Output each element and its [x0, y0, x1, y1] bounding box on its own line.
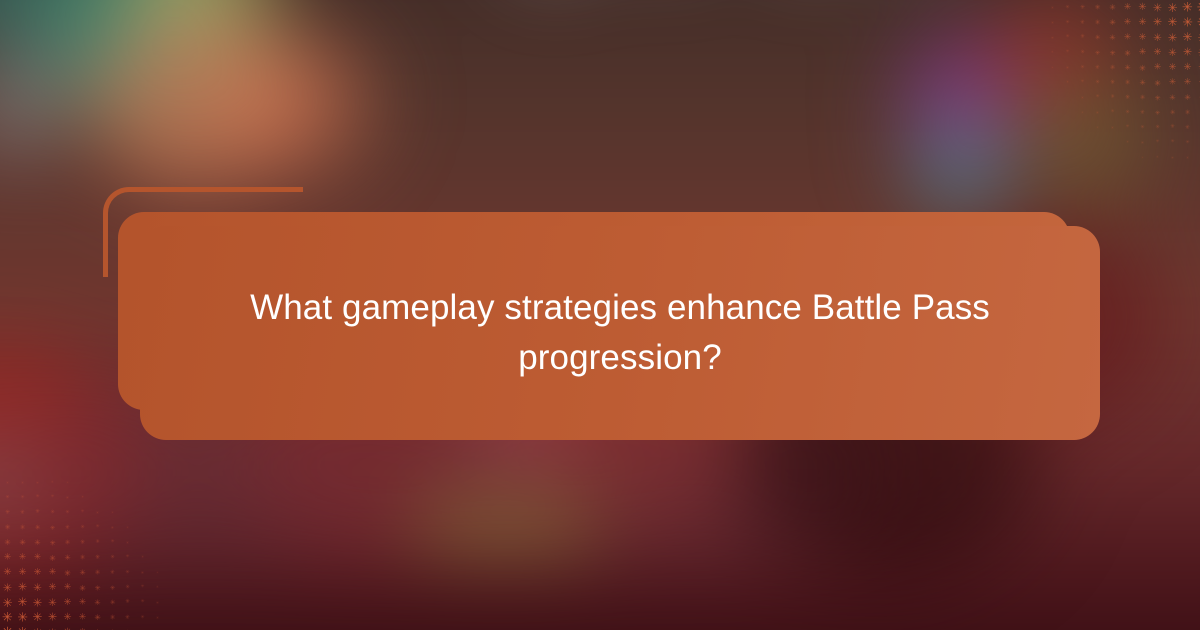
poster-canvas: ✳✳✳✳✳✳✳✳✳✳✳✳✳✳✳✳✳✳✳✳✳✳✳✳✳✳✳✳✳✳✳✳✳✳✳✳✳✳✳✳… [0, 0, 1200, 630]
bg-blob-olive [1020, 70, 1150, 210]
bg-blob-flame-2 [220, 30, 370, 170]
quote-question-text: What gameplay strategies enhance Battle … [250, 283, 990, 382]
bg-blob-cyan [910, 120, 1015, 215]
quote-card: What gameplay strategies enhance Battle … [140, 226, 1100, 440]
bg-blob-olive-bar [420, 508, 590, 540]
